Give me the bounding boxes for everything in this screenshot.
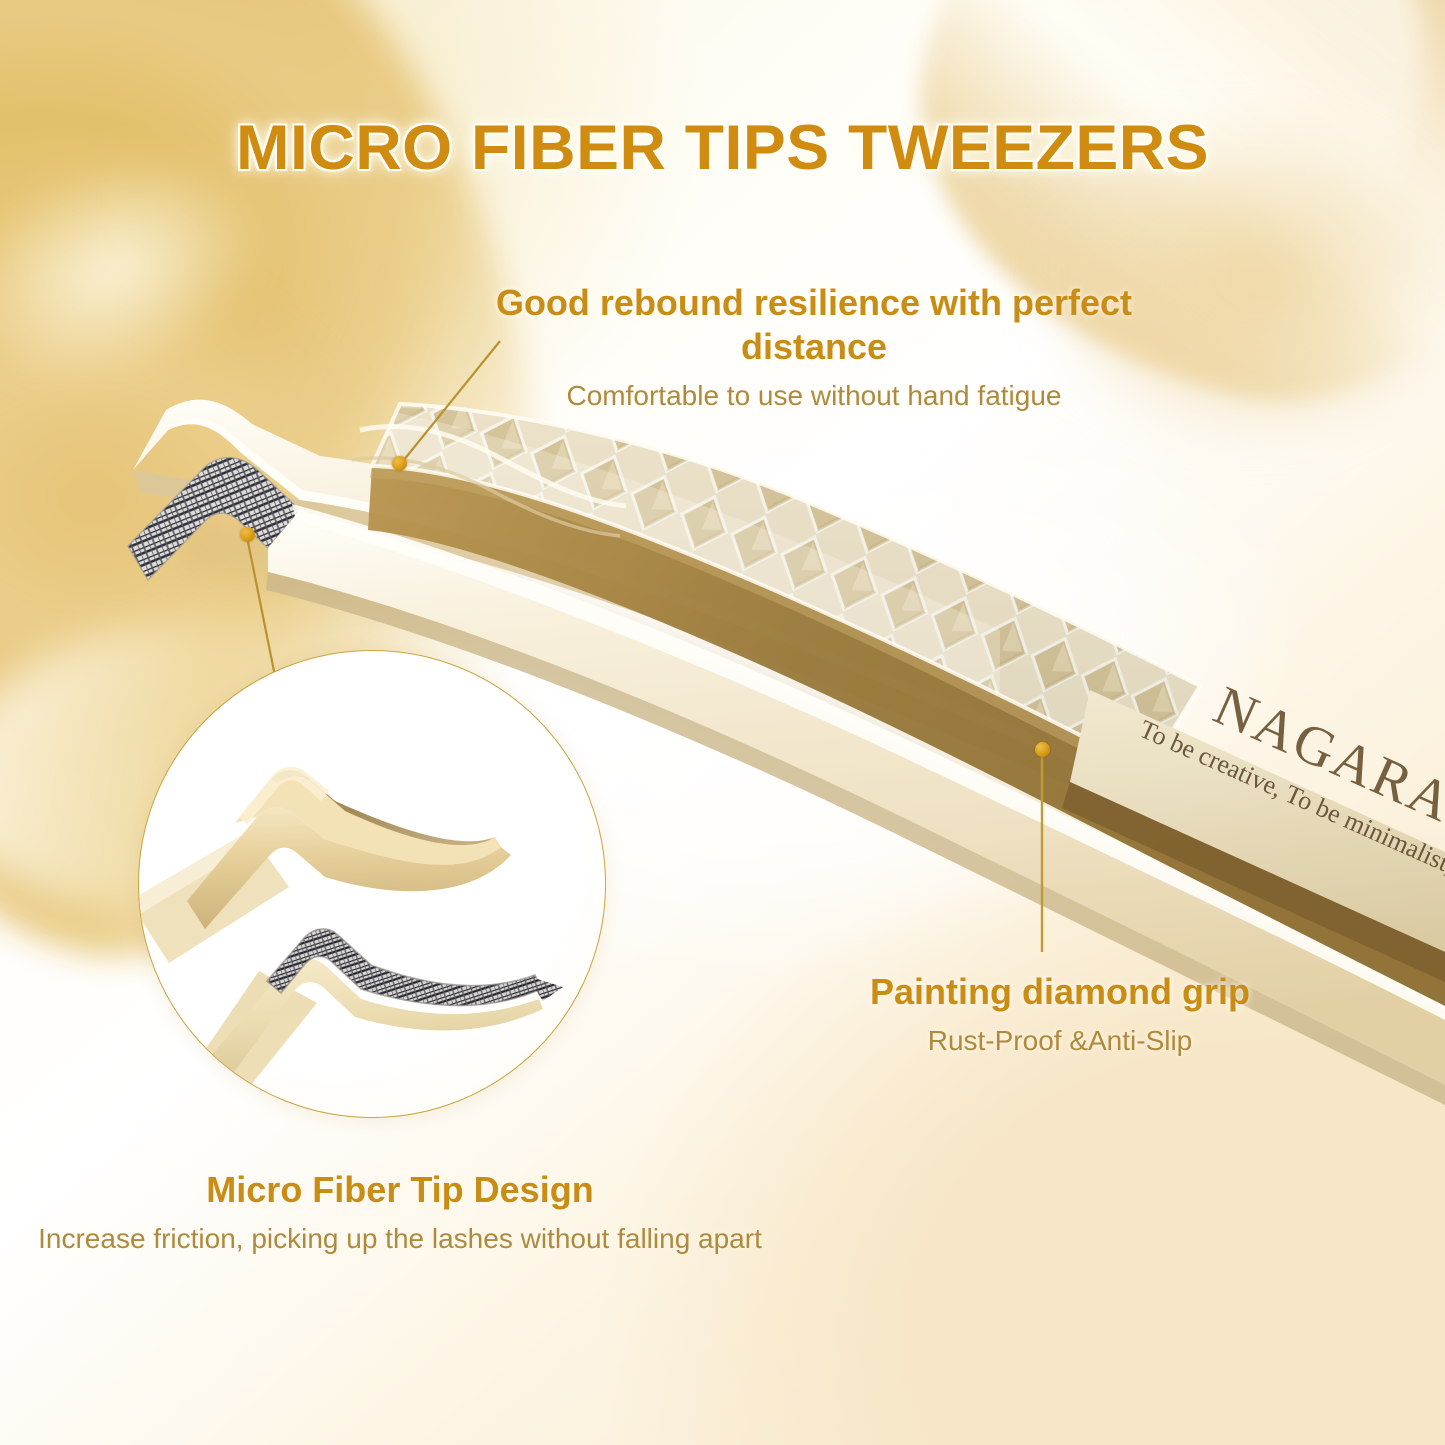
callout-rebound-resilience: Good rebound resilience with perfect dis… xyxy=(464,281,1164,414)
callout-grip-subtext: Rust-Proof &Anti-Slip xyxy=(760,1023,1360,1059)
leader-dot-diamond-grip xyxy=(1035,742,1050,757)
callout-diamond-grip: Painting diamond grip Rust-Proof &Anti-S… xyxy=(760,970,1360,1059)
infographic-canvas: NAGARA To be creative, To be minimalist,… xyxy=(0,0,1445,1445)
callout-micro-fiber-tip: Micro Fiber Tip Design Increase friction… xyxy=(20,1168,780,1257)
callout-fiber-heading: Micro Fiber Tip Design xyxy=(20,1168,780,1212)
leader-dot-fiber-tip xyxy=(240,527,255,542)
leader-dot-rebound xyxy=(392,456,407,471)
callout-fiber-subtext: Increase friction, picking up the lashes… xyxy=(20,1221,780,1257)
page-title: MICRO FIBER TIPS TWEEZERS xyxy=(0,112,1445,184)
callout-rebound-subtext: Comfortable to use without hand fatigue xyxy=(464,378,1164,414)
callout-grip-heading: Painting diamond grip xyxy=(760,970,1360,1014)
callout-rebound-heading: Good rebound resilience with perfect dis… xyxy=(464,281,1164,369)
micro-fiber-tip-magnifier xyxy=(138,650,606,1118)
